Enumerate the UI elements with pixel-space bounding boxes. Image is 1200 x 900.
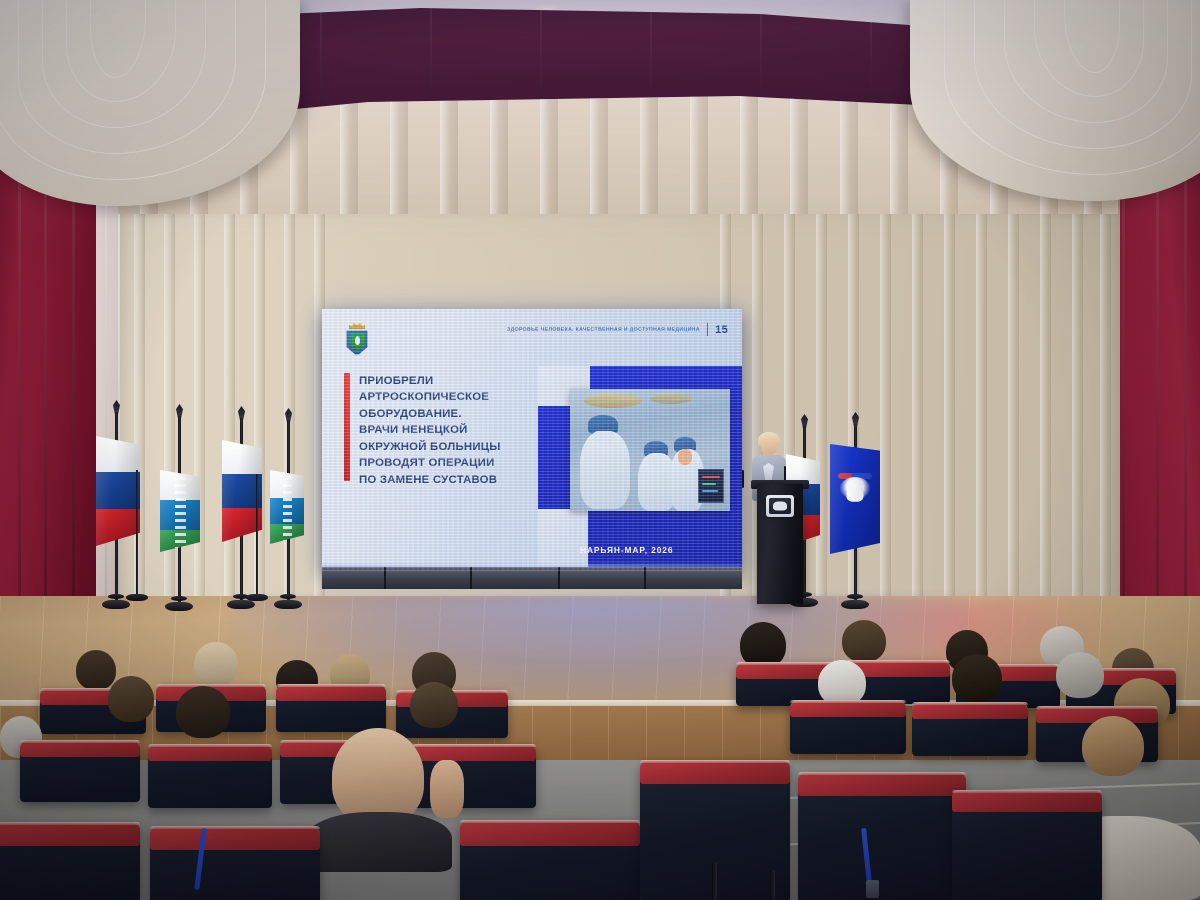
auditorium-scene: ЗДОРОВЬЕ ЧЕЛОВЕКА. КАЧЕСТВЕННАЯ И ДОСТУП… — [0, 0, 1200, 900]
audience-head — [176, 686, 230, 738]
slide-city-caption: НАРЬЯН-МАР, 2026 — [580, 545, 673, 555]
seat-leg — [712, 862, 717, 900]
podium-microphone — [742, 470, 744, 488]
slide-header-divider — [707, 323, 708, 336]
audience-head — [842, 620, 886, 662]
attendee-badge — [866, 880, 879, 898]
audience-shoulders — [306, 812, 452, 872]
coat-of-arms-icon — [342, 322, 372, 358]
audience-head — [108, 676, 154, 722]
slide-header-text: ЗДОРОВЬЕ ЧЕЛОВЕКА. КАЧЕСТВЕННАЯ И ДОСТУП… — [507, 327, 700, 333]
led-screen: ЗДОРОВЬЕ ЧЕЛОВЕКА. КАЧЕСТВЕННАЯ И ДОСТУП… — [322, 309, 742, 571]
audience-seat[interactable] — [148, 744, 272, 808]
audience-seat[interactable] — [20, 740, 140, 802]
surgery-photo — [570, 389, 730, 511]
audience-head — [76, 650, 116, 690]
audience-head — [1056, 652, 1104, 698]
audience-seat[interactable] — [150, 826, 320, 900]
audience-seat[interactable] — [952, 790, 1102, 900]
audience-seat[interactable] — [912, 702, 1028, 756]
slide-header: ЗДОРОВЬЕ ЧЕЛОВЕКА. КАЧЕСТВЕННАЯ И ДОСТУП… — [507, 323, 728, 336]
slide-title-block: ПРИОБРЕЛИ АРТРОСКОПИЧЕСКОЕ ОБОРУДОВАНИЕ.… — [344, 373, 501, 488]
audience-head — [410, 682, 458, 728]
audience-head — [194, 642, 238, 686]
slide-panel-notch-bottom — [538, 509, 588, 571]
audience-seat[interactable] — [276, 684, 386, 732]
audience-seat[interactable] — [0, 822, 140, 900]
audience-head — [1082, 716, 1144, 776]
slide-accent-bar — [344, 373, 350, 481]
audience-head — [952, 654, 1002, 702]
seat-leg — [770, 870, 775, 900]
slide-number: 15 — [715, 324, 728, 336]
led-screen-bezel — [322, 567, 742, 589]
slide-title: ПРИОБРЕЛИ АРТРОСКОПИЧЕСКОЕ ОБОРУДОВАНИЕ.… — [359, 373, 501, 488]
presentation-slide: ЗДОРОВЬЕ ЧЕЛОВЕКА. КАЧЕСТВЕННАЯ И ДОСТУП… — [322, 309, 742, 571]
audience-seat[interactable] — [798, 772, 966, 900]
audience-head-bald — [332, 728, 424, 824]
audience-seat[interactable] — [460, 820, 640, 900]
speaker-head — [761, 436, 777, 455]
podium-emblem — [766, 495, 794, 517]
audience-seat[interactable] — [790, 700, 906, 754]
audience-head — [430, 760, 464, 818]
